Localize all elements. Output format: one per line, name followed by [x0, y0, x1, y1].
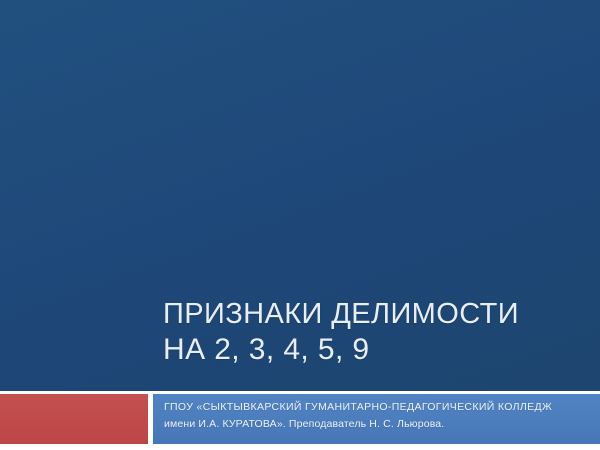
- slide-footer-bar: ГПОУ «СЫКТЫВКАРСКИЙ ГУМАНИТАРНО-ПЕДАГОГИ…: [0, 394, 600, 444]
- subtitle-band: ГПОУ «СЫКТЫВКАРСКИЙ ГУМАНИТАРНО-ПЕДАГОГИ…: [153, 394, 600, 444]
- subtitle-line-2: имени И.А. КУРАТОВА». Преподаватель Н. С…: [164, 416, 589, 433]
- subtitle-line-1: ГПОУ «СЫКТЫВКАРСКИЙ ГУМАНИТАРНО-ПЕДАГОГИ…: [164, 399, 589, 416]
- accent-block-red: [0, 394, 148, 444]
- bottom-white-strip: [0, 444, 600, 450]
- slide-title: ПРИЗНАКИ ДЕЛИМОСТИ НА 2, 3, 4, 5, 9: [163, 296, 583, 368]
- title-line-1: ПРИЗНАКИ ДЕЛИМОСТИ: [163, 296, 583, 332]
- title-line-2: НА 2, 3, 4, 5, 9: [163, 332, 583, 368]
- presentation-slide: ПРИЗНАКИ ДЕЛИМОСТИ НА 2, 3, 4, 5, 9 ГПОУ…: [0, 0, 600, 450]
- slide-subtitle: ГПОУ «СЫКТЫВКАРСКИЙ ГУМАНИТАРНО-ПЕДАГОГИ…: [164, 399, 589, 433]
